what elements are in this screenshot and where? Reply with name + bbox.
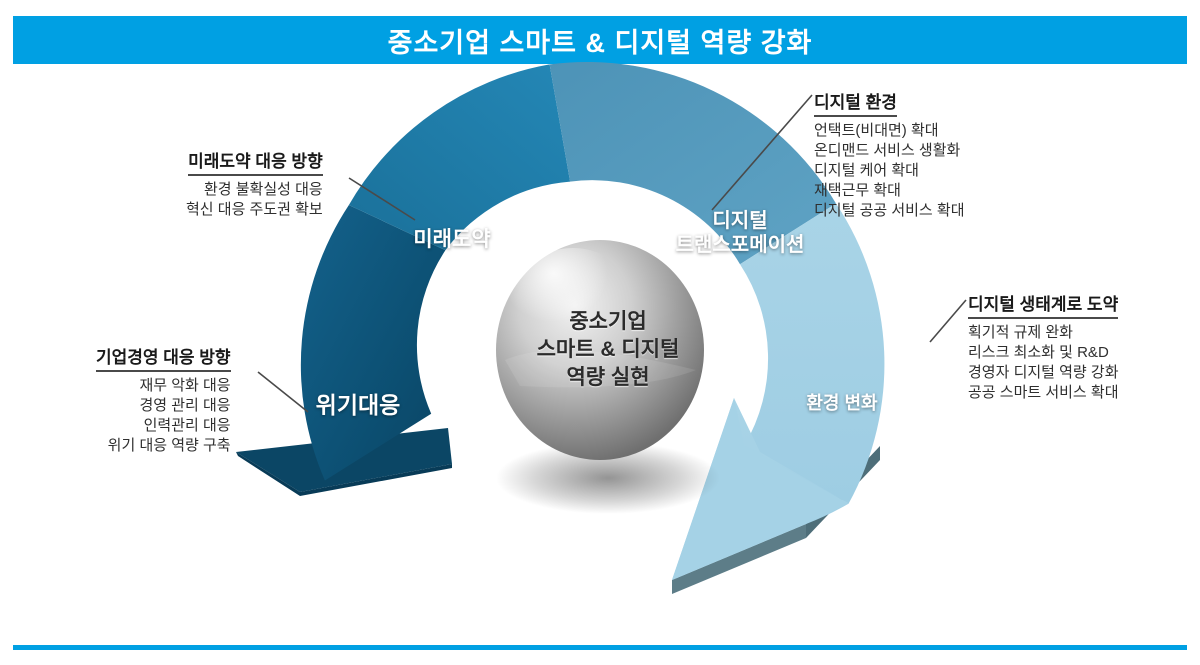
ring-label-dx-line2: 트랜스포메이션: [640, 234, 840, 258]
ring-label-crisis[interactable]: 위기대응: [288, 392, 428, 419]
callout-digital-environment-item: 디지털 케어 확대: [814, 161, 965, 181]
callout-digital-environment-item: 언택트(비대면) 확대: [814, 121, 965, 141]
callout-digital-ecosystem-item: 리스크 최소화 및 R&D: [968, 343, 1119, 363]
callout-digital-environment-item: 온디맨드 서비스 생활화: [814, 141, 965, 161]
callout-digital-environment: 디지털 환경 언택트(비대면) 확대 온디맨드 서비스 생활화 디지털 케어 확…: [814, 88, 965, 221]
page-title: 중소기업 스마트 & 디지털 역량 강화: [388, 21, 813, 60]
slide-canvas: 중소기업 스마트 & 디지털 역량 강화: [0, 0, 1200, 665]
callout-digital-ecosystem-heading: 디지털 생태계로 도약: [968, 290, 1118, 319]
callout-digital-environment-list: 언택트(비대면) 확대 온디맨드 서비스 생활화 디지털 케어 확대 재택근무 …: [814, 121, 965, 221]
bottom-rule: [13, 645, 1187, 650]
ring-label-dx[interactable]: 디지털 트랜스포메이션: [640, 210, 840, 257]
callout-management-item: 경영 관리 대응: [96, 396, 231, 416]
callout-digital-ecosystem-item: 경영자 디지털 역량 강화: [968, 363, 1119, 383]
callout-management-item: 재무 악화 대응: [96, 376, 231, 396]
callout-digital-ecosystem-list: 획기적 규제 완화 리스크 최소화 및 R&D 경영자 디지털 역량 강화 공공…: [968, 323, 1119, 403]
callout-digital-environment-heading: 디지털 환경: [814, 88, 897, 117]
callout-management-list: 재무 악화 대응 경영 관리 대응 인력관리 대응 위기 대응 역량 구축: [96, 376, 231, 456]
callout-future-list: 환경 불확실성 대응 혁신 대응 주도권 확보: [186, 180, 323, 220]
callout-management: 기업경영 대응 방향 재무 악화 대응 경영 관리 대응 인력관리 대응 위기 …: [96, 343, 231, 456]
callout-digital-environment-item: 디지털 공공 서비스 확대: [814, 201, 965, 221]
ring-label-future[interactable]: 미래도약: [382, 228, 522, 253]
ring-label-change[interactable]: 환경 변화: [772, 393, 912, 414]
callout-digital-ecosystem: 디지털 생태계로 도약 획기적 규제 완화 리스크 최소화 및 R&D 경영자 …: [968, 290, 1119, 403]
callout-future-item: 환경 불확실성 대응: [186, 180, 323, 200]
callout-digital-environment-item: 재택근무 확대: [814, 181, 965, 201]
center-sphere[interactable]: [496, 240, 704, 460]
callout-digital-ecosystem-item: 획기적 규제 완화: [968, 323, 1119, 343]
callout-future-heading: 미래도약 대응 방향: [188, 147, 323, 176]
callout-management-item: 인력관리 대응: [96, 416, 231, 436]
callout-digital-ecosystem-item: 공공 스마트 서비스 확대: [968, 383, 1119, 403]
callout-management-heading: 기업경영 대응 방향: [96, 343, 231, 372]
callout-management-item: 위기 대응 역량 구축: [96, 436, 231, 456]
callout-future: 미래도약 대응 방향 환경 불확실성 대응 혁신 대응 주도권 확보: [186, 147, 323, 220]
ring-label-dx-line1: 디지털: [640, 210, 840, 234]
callout-future-item: 혁신 대응 주도권 확보: [186, 200, 323, 220]
title-banner: 중소기업 스마트 & 디지털 역량 강화: [13, 16, 1187, 64]
